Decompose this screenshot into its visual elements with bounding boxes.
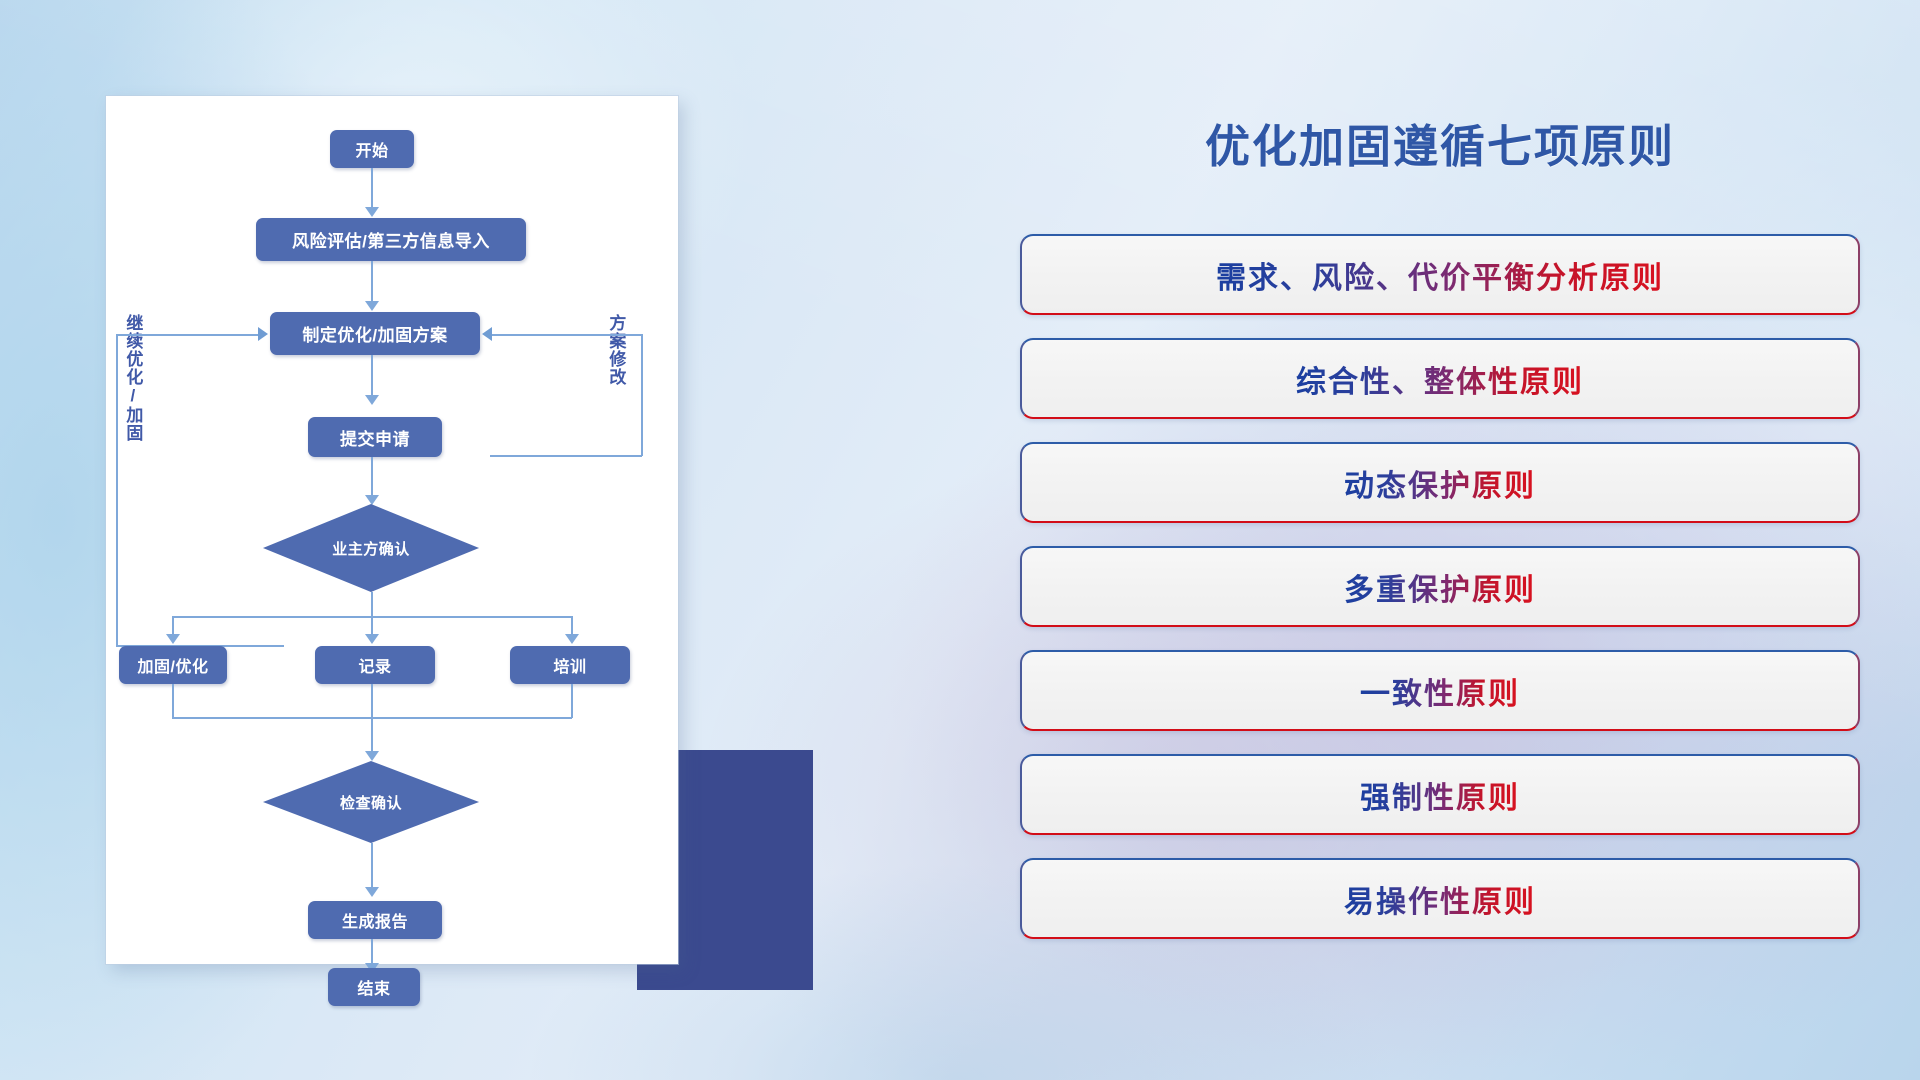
principle-card-7[interactable]: 易操作性原则 (1020, 858, 1860, 939)
connector-owner-branch-bus (172, 616, 572, 618)
principles-list: 需求、风险、代价平衡分析原则 综合性、整体性原则 动态保护原则 多重保护原则 一… (1020, 234, 1860, 962)
principle-card-6[interactable]: 强制性原则 (1020, 754, 1860, 835)
connector-plan-to-submit (371, 355, 373, 399)
principle-card-3[interactable]: 动态保护原则 (1020, 442, 1860, 523)
flow-node-reinforce-optimize[interactable]: 加固/优化 (119, 646, 227, 684)
page-title: 优化加固遵循七项原则 (1020, 110, 1860, 175)
arrowhead-right-loop-into-plan (482, 327, 492, 341)
arrowhead-check-to-report (365, 887, 379, 897)
flow-node-check-confirm[interactable]: 检查确认 (263, 761, 479, 843)
arrowhead-branch-reinforce (166, 634, 180, 644)
edge-label-right-loop: 方案修改 (607, 314, 624, 386)
arrowhead-plan-to-submit (365, 395, 379, 405)
flow-node-submit-application[interactable]: 提交申请 (308, 417, 442, 457)
principle-card-1-label: 需求、风险、代价平衡分析原则 (1216, 253, 1664, 297)
arrowhead-branch-train (565, 634, 579, 644)
connector-owner-down (371, 592, 373, 638)
flow-node-check-confirm-label: 检查确认 (263, 761, 479, 843)
arrowhead-start-to-risk (365, 207, 379, 217)
principle-card-1[interactable]: 需求、风险、代价平衡分析原则 (1020, 234, 1860, 315)
flow-node-record[interactable]: 记录 (315, 646, 435, 684)
arrowhead-branch-record (365, 634, 379, 644)
connector-record-down (371, 684, 373, 755)
principle-card-2-label: 综合性、整体性原则 (1296, 357, 1584, 401)
arrowhead-risk-to-plan (365, 301, 379, 311)
principle-card-3-label: 动态保护原则 (1344, 461, 1536, 505)
connector-right-loop-vertical (641, 334, 643, 456)
flowchart-panel: 继续优化/加固 方案修改 开始 风险评估/第三方信息导入 制定优化/加固方案 提… (106, 96, 678, 964)
connector-check-to-report (371, 843, 373, 891)
flow-node-risk-assessment[interactable]: 风险评估/第三方信息导入 (256, 218, 526, 261)
flow-node-owner-confirm-label: 业主方确认 (263, 504, 479, 592)
principle-card-5[interactable]: 一致性原则 (1020, 650, 1860, 731)
connector-right-loop-bottom (490, 455, 642, 457)
connector-train-down (571, 684, 573, 718)
principle-card-2[interactable]: 综合性、整体性原则 (1020, 338, 1860, 419)
flow-node-owner-confirm[interactable]: 业主方确认 (263, 504, 479, 592)
principle-card-4-label: 多重保护原则 (1344, 565, 1536, 609)
connector-left-loop-vertical (116, 334, 118, 646)
flow-node-make-plan[interactable]: 制定优化/加固方案 (270, 312, 480, 355)
principle-card-6-label: 强制性原则 (1360, 773, 1520, 817)
principle-card-5-label: 一致性原则 (1360, 669, 1520, 713)
flow-node-end[interactable]: 结束 (328, 968, 420, 1006)
principles-section: 优化加固遵循七项原则 需求、风险、代价平衡分析原则 综合性、整体性原则 动态保护… (1020, 0, 1900, 1080)
arrowhead-left-loop-into-plan (258, 327, 268, 341)
arrowhead-into-check (365, 751, 379, 761)
connector-reinforce-down (172, 684, 174, 718)
principle-card-7-label: 易操作性原则 (1344, 877, 1536, 921)
connector-submit-to-owner (371, 457, 373, 499)
connector-left-loop-top (116, 334, 260, 336)
principle-card-4[interactable]: 多重保护原则 (1020, 546, 1860, 627)
connector-start-to-risk (371, 168, 373, 211)
flowchart-section: 继续优化/加固 方案修改 开始 风险评估/第三方信息导入 制定优化/加固方案 提… (0, 0, 900, 1080)
connector-risk-to-plan (371, 261, 373, 305)
flow-node-training[interactable]: 培训 (510, 646, 630, 684)
flow-node-generate-report[interactable]: 生成报告 (308, 901, 442, 939)
connector-right-loop-top (490, 334, 642, 336)
flow-node-start[interactable]: 开始 (330, 130, 414, 168)
